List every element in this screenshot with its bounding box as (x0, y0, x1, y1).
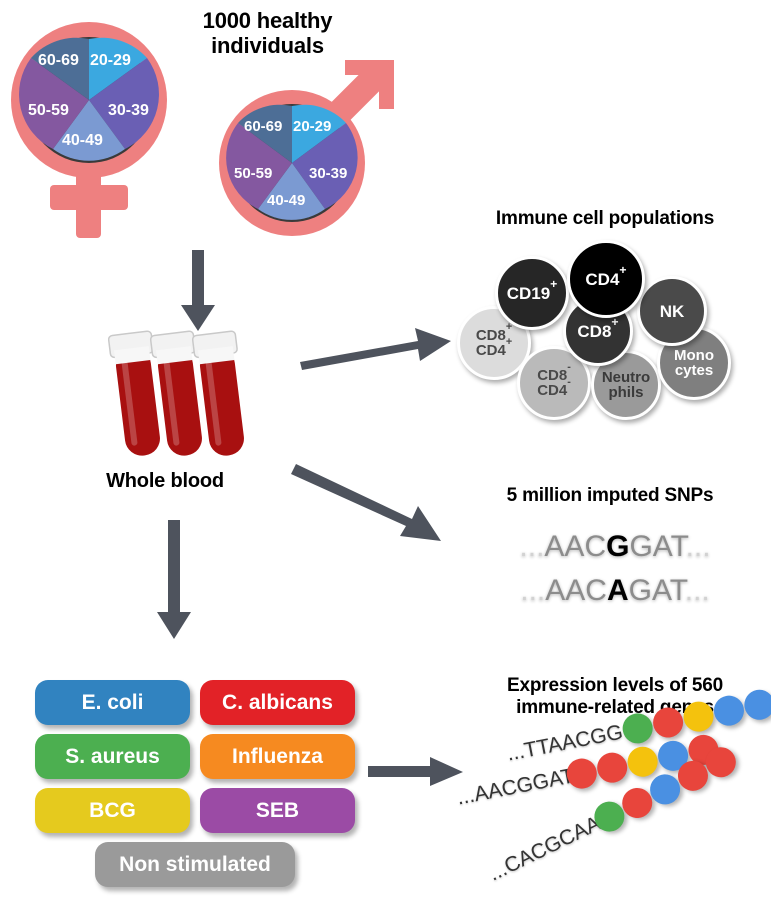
snp-prefix: ... (520, 574, 545, 607)
stimulation-pill-non-stimulated[interactable]: Non stimulated (95, 842, 295, 887)
stimulation-row: S. aureusInfluenza (35, 734, 355, 779)
immune-cell-cd19: CD19+ (495, 256, 569, 330)
stimulation-row: BCGSEB (35, 788, 355, 833)
snp-sequence-block: ...AACGGAT... ...AACAGAT... (480, 525, 750, 612)
snp-prefix: ... (519, 530, 544, 563)
snp-post: GAT (629, 530, 685, 563)
snp-suffix: ... (686, 530, 711, 563)
immune-cell-label: Mono (674, 348, 714, 363)
immune-cell-label: CD4+ (476, 343, 512, 358)
immune-cell-label: NK (660, 303, 685, 320)
gene-bead (595, 750, 630, 785)
stimulation-pill-s-aureus[interactable]: S. aureus (35, 734, 190, 779)
snp-highlight-allele: A (607, 574, 629, 607)
arrow-to-snps (296, 464, 448, 542)
snp-suffix: ... (685, 574, 710, 607)
stimulation-pill-seb[interactable]: SEB (200, 788, 355, 833)
snp-row: ...AACAGAT... (480, 569, 750, 613)
immune-cell-label: CD4+ (585, 271, 626, 288)
stimulation-row: E. coliC. albicans (35, 680, 355, 725)
arrow-down-to-blood (178, 250, 218, 332)
snp-pre: AAC (544, 530, 606, 563)
arrow-to-immune-cells (300, 328, 452, 370)
stimulation-row: Non stimulated (35, 842, 355, 887)
stimulation-pill-e-coli[interactable]: E. coli (35, 680, 190, 725)
stimulation-pill-bcg[interactable]: BCG (35, 788, 190, 833)
gene-bead (625, 744, 660, 779)
immune-cell-label: cytes (675, 363, 713, 378)
stimulation-pill-c-albicans[interactable]: C. albicans (200, 680, 355, 725)
immune-cell-cd4: CD4+ (567, 240, 645, 318)
male-gender-symbol: 20-29 30-39 40-49 50-59 60-69 (212, 48, 412, 248)
snp-post: GAT (629, 574, 685, 607)
snp-highlight-allele: G (606, 530, 629, 563)
snp-row: ...AACGGAT... (480, 525, 750, 569)
label-whole-blood: Whole blood (75, 470, 255, 493)
immune-cell-label: CD8- (537, 368, 571, 383)
arrow-to-expression (368, 757, 464, 787)
immune-cell-nk: NK (637, 276, 707, 346)
blood-tubes-illustration (108, 330, 248, 470)
immune-cell-label: phils (608, 385, 643, 400)
immune-cell-label: CD4- (537, 383, 571, 398)
immune-cell-population-cluster: CD19+CD4+NKCD8+CD8+CD4+CD8-CD4-Neutrophi… (455, 238, 755, 418)
arrow-down-to-stimulations (155, 520, 195, 640)
gene-strand-sequence: ...AACGGAT (455, 764, 576, 810)
gene-expression-strands: ...TTAACGG...AACGGAT...CACGCAA (465, 735, 771, 915)
section-title-immune-cells: Immune cell populations (455, 208, 755, 230)
immune-cell-label: CD19+ (507, 285, 558, 302)
stimulation-conditions-grid: E. coliC. albicansS. aureusInfluenzaBCGS… (35, 680, 355, 896)
stimulation-pill-influenza[interactable]: Influenza (200, 734, 355, 779)
female-gender-symbol: 20-29 30-39 40-49 50-59 60-69 (10, 10, 220, 245)
gene-strand-sequence: ...CACGCAA (485, 812, 605, 887)
immune-cell-label: CD8+ (577, 323, 618, 340)
snp-pre: AAC (545, 574, 607, 607)
section-title-snps: 5 million imputed SNPs (470, 485, 750, 507)
immune-cell-label: Neutro (602, 370, 650, 385)
